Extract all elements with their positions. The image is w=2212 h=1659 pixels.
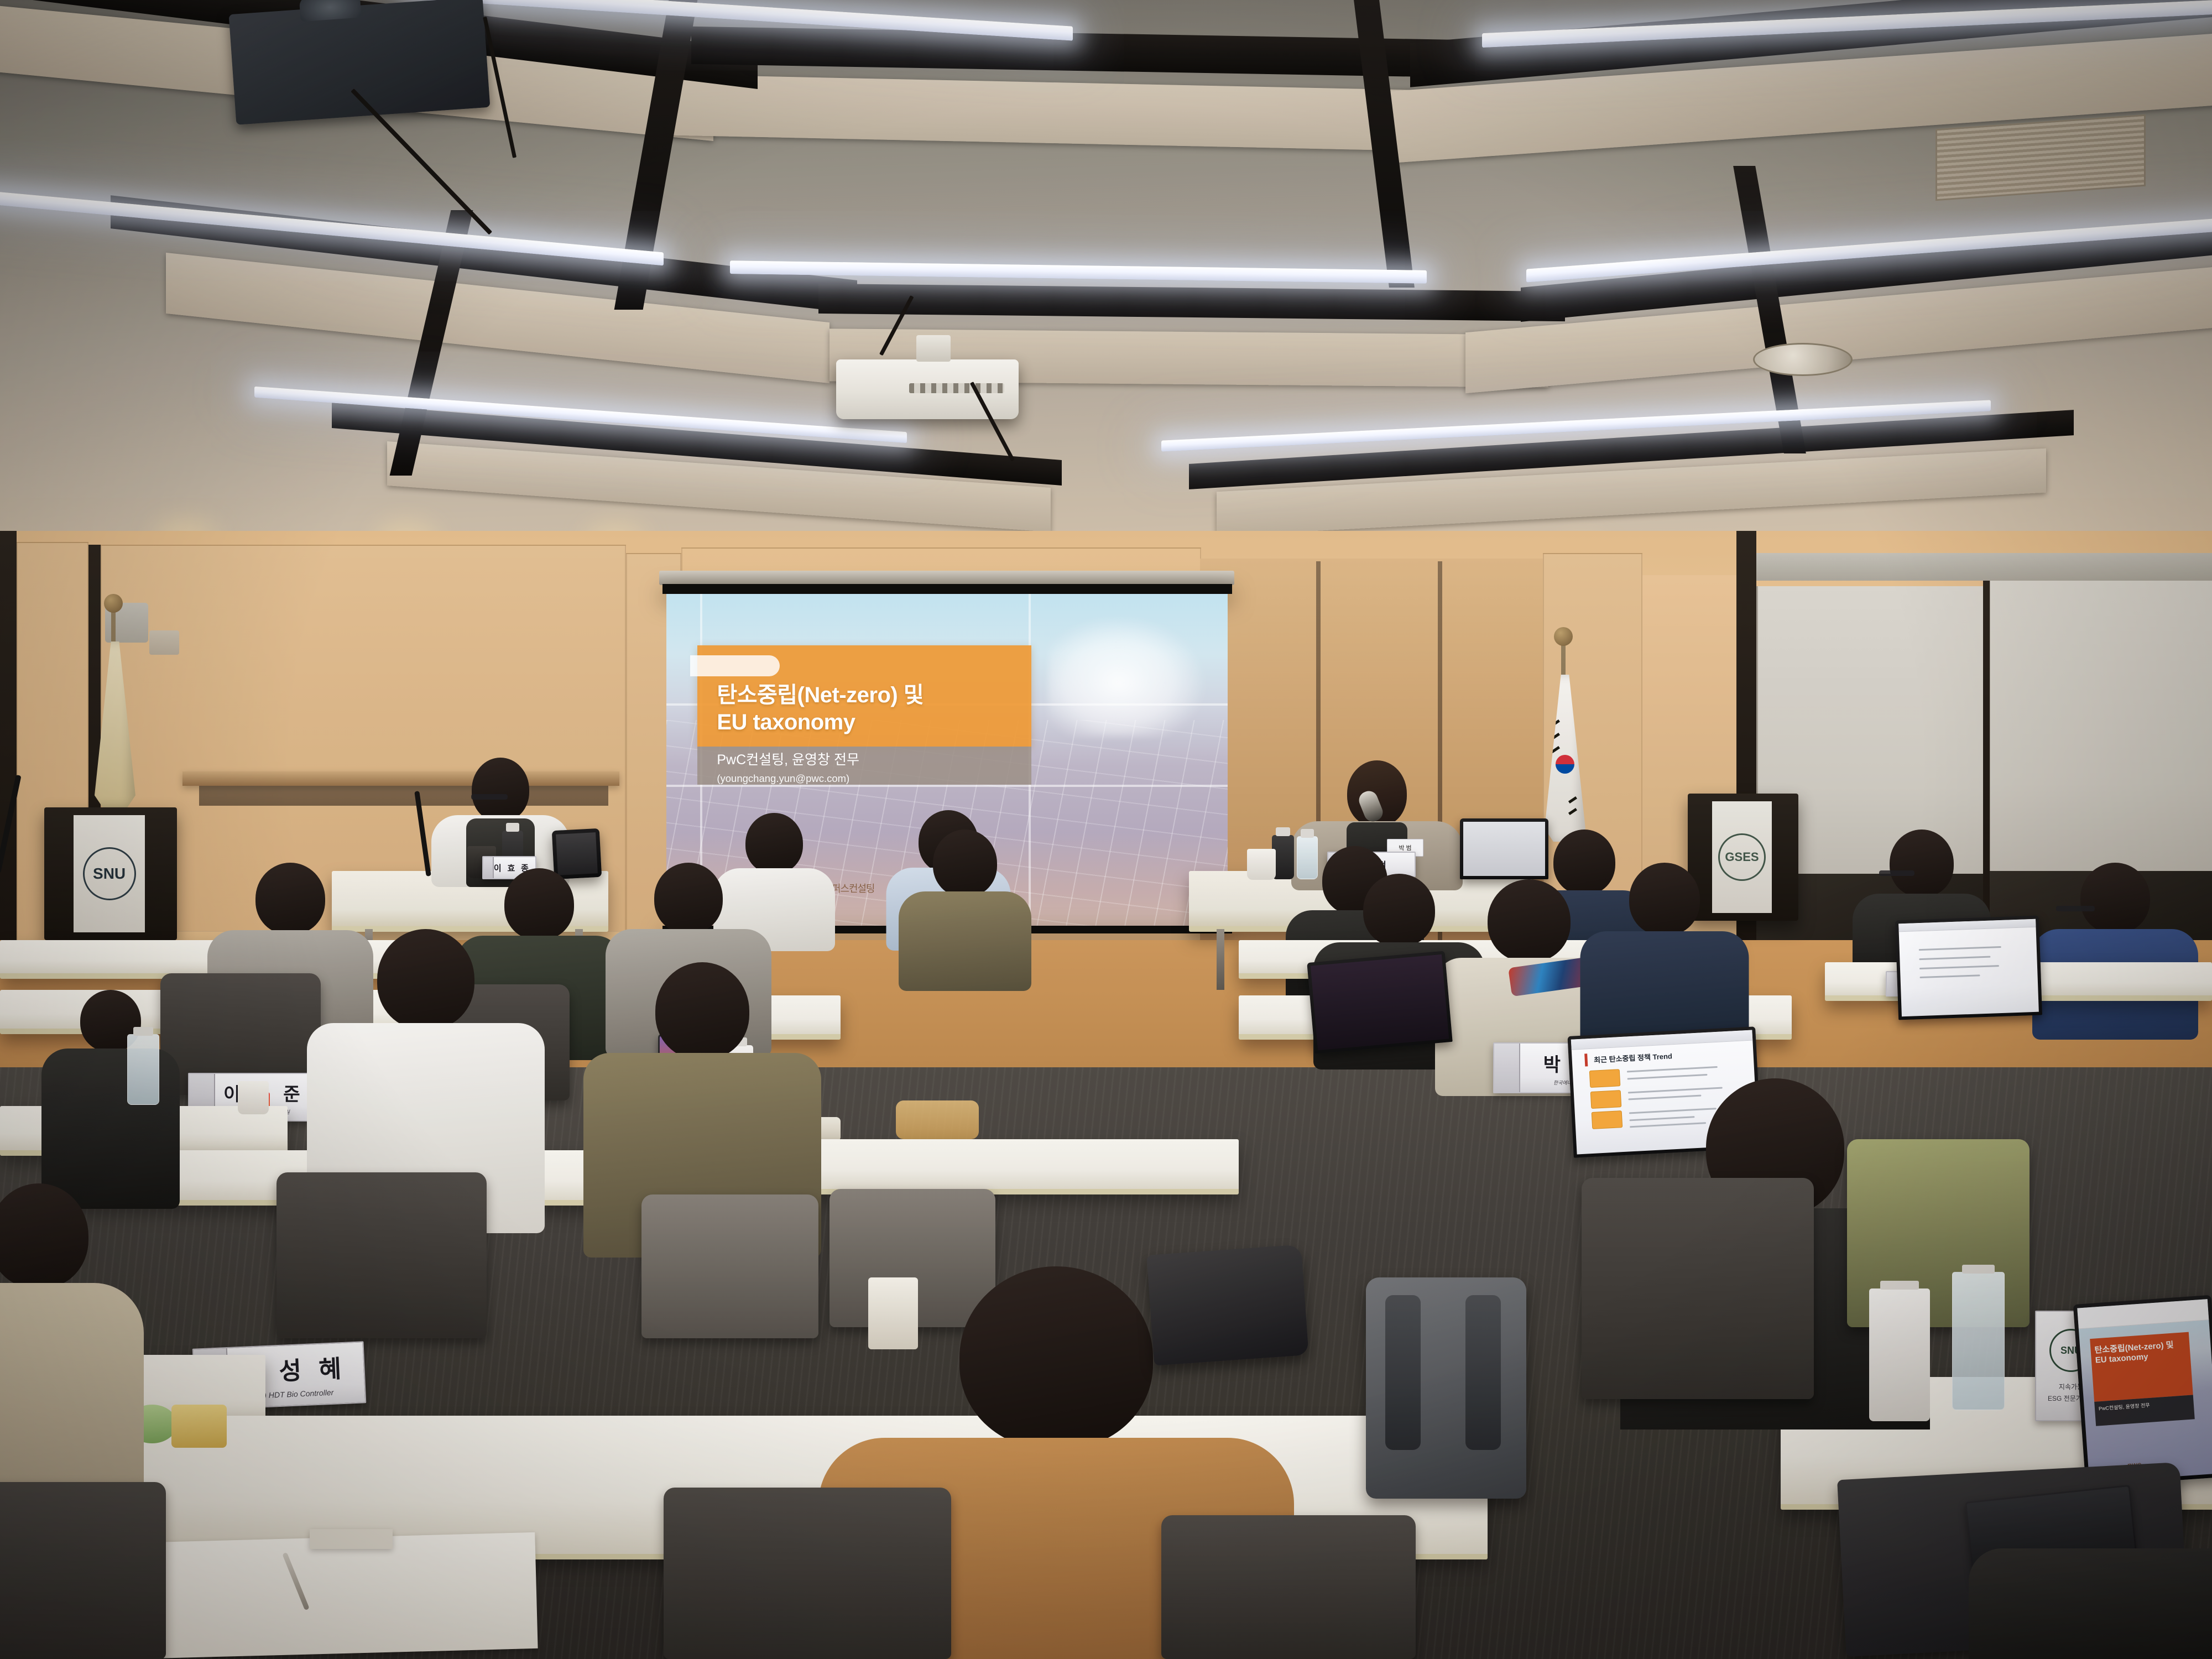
slide-guide-line: [666, 785, 1228, 787]
flag-cloth: [95, 641, 135, 808]
trigram: [1568, 796, 1577, 804]
wall-edge: [0, 531, 17, 984]
torso: [1969, 1548, 2212, 1659]
laptop-samsung: [1307, 951, 1452, 1053]
slide-tab-decoration: [690, 655, 780, 676]
thermos-bottle: [1869, 1288, 1930, 1421]
head: [255, 863, 325, 935]
trigram: [1551, 733, 1560, 740]
screen-top-bar: [662, 584, 1232, 594]
water-bottle: [1952, 1272, 2005, 1410]
laptop-doc-title: 최근 탄소중립 정책 Trend: [1594, 1047, 1728, 1065]
trigram: [1568, 808, 1577, 815]
backpack: [1366, 1277, 1526, 1499]
lectern-left: SNU: [44, 807, 177, 940]
snu-emblem-icon: SNU: [83, 847, 136, 900]
head: [1488, 879, 1571, 962]
head: [1890, 830, 1954, 897]
head: [933, 830, 997, 897]
paper-label: [310, 1529, 393, 1549]
head: [654, 863, 723, 933]
head: [377, 929, 474, 1030]
glasses-icon: [471, 794, 508, 800]
head: [0, 1183, 88, 1288]
chair: [641, 1194, 818, 1338]
notebook: [148, 1532, 538, 1658]
head: [655, 962, 749, 1060]
audience-person: [901, 830, 1029, 962]
handbag: [1146, 1244, 1308, 1365]
chair: [276, 1172, 487, 1338]
lecture-hall-photo: 탄소중립(Net-zero) 및 EU taxonomy PwC컨설팅, 윤영창…: [0, 0, 2212, 1659]
chair: [0, 1482, 166, 1659]
camera-lens-icon: [299, 0, 362, 22]
foreground-person-farright: [1969, 1548, 2212, 1659]
table-leg: [1217, 929, 1224, 990]
head: [1629, 863, 1700, 936]
slide-presenter: PwC컨설팅, 윤영창 전무 (youngchang.yun@pwc.com): [717, 752, 1031, 785]
trigram: [1551, 746, 1560, 753]
window-blind: [1989, 578, 2212, 871]
tablet-front-right: 탄소중립(Net-zero) 및 EU taxonomy PwC컨설팅, 윤영창…: [2073, 1295, 2212, 1487]
flag-finial: [1554, 627, 1573, 646]
chair: [1582, 1178, 1814, 1399]
flag-cloth: [1545, 675, 1585, 842]
slide-cloud: [1048, 617, 1205, 737]
trigram: [1551, 719, 1560, 727]
torso: [899, 891, 1031, 991]
ceiling-speaker: [1753, 343, 1853, 376]
flag-finial: [104, 594, 123, 613]
screen-roller: [659, 571, 1234, 585]
cup: [238, 1081, 269, 1114]
water-bottle: [127, 1034, 159, 1105]
head: [1363, 874, 1435, 947]
snack: [171, 1405, 227, 1448]
ceiling-projector: [836, 359, 1019, 419]
head: [472, 758, 529, 822]
nameplate-side-panel: [1494, 1044, 1520, 1092]
bread-bag: [896, 1100, 979, 1139]
chair: [664, 1488, 951, 1659]
cup: [1247, 849, 1276, 880]
audience-person: [1582, 863, 1747, 1051]
glasses-icon: [1879, 870, 1914, 876]
ceiling-vent: [1936, 114, 2146, 201]
school-flag: [88, 608, 138, 841]
slide-title: 탄소중립(Net-zero) 및 EU taxonomy: [717, 682, 1031, 736]
chair: [1161, 1515, 1416, 1659]
ceiling-camera: [229, 0, 491, 125]
head: [2080, 863, 2150, 933]
projector-mount: [916, 335, 951, 362]
projector-ports: [909, 383, 1004, 393]
cup: [868, 1277, 918, 1349]
slide-presenter-email: (youngchang.yun@pwc.com): [717, 772, 1031, 785]
laptop-attendee-farright: [1895, 916, 2042, 1020]
lectern-face: SNU: [74, 815, 145, 932]
wall-device-box: [149, 630, 179, 655]
backpack-strap: [1465, 1295, 1501, 1450]
backpack-strap: [1385, 1295, 1421, 1450]
blind-valance: [1756, 553, 2212, 581]
head: [959, 1266, 1153, 1449]
taeguk-symbol: [1556, 755, 1574, 774]
glasses-icon: [2056, 906, 2095, 911]
